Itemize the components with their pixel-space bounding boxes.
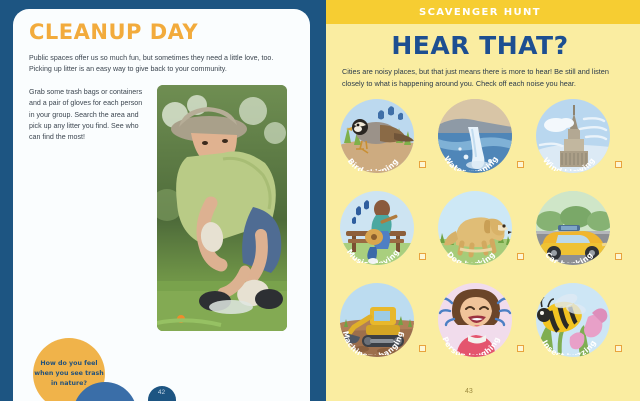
hunt-item: Person laughing <box>434 281 532 370</box>
car-icon <box>536 191 610 265</box>
hunt-item: Wind blowing <box>532 97 630 186</box>
dog-icon <box>438 191 512 265</box>
tower-icon <box>536 99 610 173</box>
content-with-photo: Grab some trash bags or containers and a… <box>29 87 294 331</box>
instructions-paragraph: Grab some trash bags or containers and a… <box>29 87 149 331</box>
hunt-item: Water running <box>434 97 532 186</box>
hunt-item-checkbox[interactable] <box>517 345 524 352</box>
hunt-item: Car honking <box>532 189 630 278</box>
banner-label: SCAVENGER HUNT <box>419 7 541 18</box>
page-title: CLEANUP DAY <box>29 22 294 43</box>
bird-icon <box>340 99 414 173</box>
right-page-title: HEAR THAT? <box>320 33 640 58</box>
scavenger-hunt-banner: SCAVENGER HUNT <box>320 0 640 24</box>
hunt-item-checkbox[interactable] <box>517 253 524 260</box>
question-bubbles: How do you feel when you see trash in na… <box>29 338 169 401</box>
hunt-item: Machinery banging <box>336 281 434 370</box>
book-spread: CLEANUP DAY Public spaces offer us so mu… <box>0 0 640 401</box>
hunt-item: Music playing <box>336 189 434 278</box>
waterfall-icon <box>438 99 512 173</box>
bee-icon <box>536 283 610 357</box>
hunt-item-checkbox[interactable] <box>419 345 426 352</box>
hunt-item: Bird chirping <box>336 97 434 186</box>
book-spine <box>320 0 326 401</box>
laughing-icon <box>438 283 512 357</box>
hunt-item: Dog barking <box>434 189 532 278</box>
page-number-right: 43 <box>465 388 473 395</box>
hunt-item-checkbox[interactable] <box>517 161 524 168</box>
guitar-icon <box>340 191 414 265</box>
hunt-item-checkbox[interactable] <box>419 161 426 168</box>
page-number-left: 42 <box>148 386 176 401</box>
scavenger-hunt-grid: Bird chirping Water running <box>320 97 640 370</box>
left-page: CLEANUP DAY Public spaces offer us so mu… <box>0 0 320 401</box>
right-intro-paragraph: Cities are noisy places, but that just m… <box>342 66 622 89</box>
hunt-item: Insect buzzing <box>532 281 630 370</box>
hunt-item-checkbox[interactable] <box>419 253 426 260</box>
right-page: SCAVENGER HUNT HEAR THAT? Cities are noi… <box>320 0 640 401</box>
excavator-icon <box>340 283 414 357</box>
hunt-item-checkbox[interactable] <box>615 161 622 168</box>
child-picking-up-litter-photo <box>157 85 287 331</box>
left-page-card: CLEANUP DAY Public spaces offer us so mu… <box>13 9 310 401</box>
intro-paragraph: Public spaces offer us so much fun, but … <box>29 53 294 76</box>
hunt-item-checkbox[interactable] <box>615 345 622 352</box>
hunt-item-checkbox[interactable] <box>615 253 622 260</box>
